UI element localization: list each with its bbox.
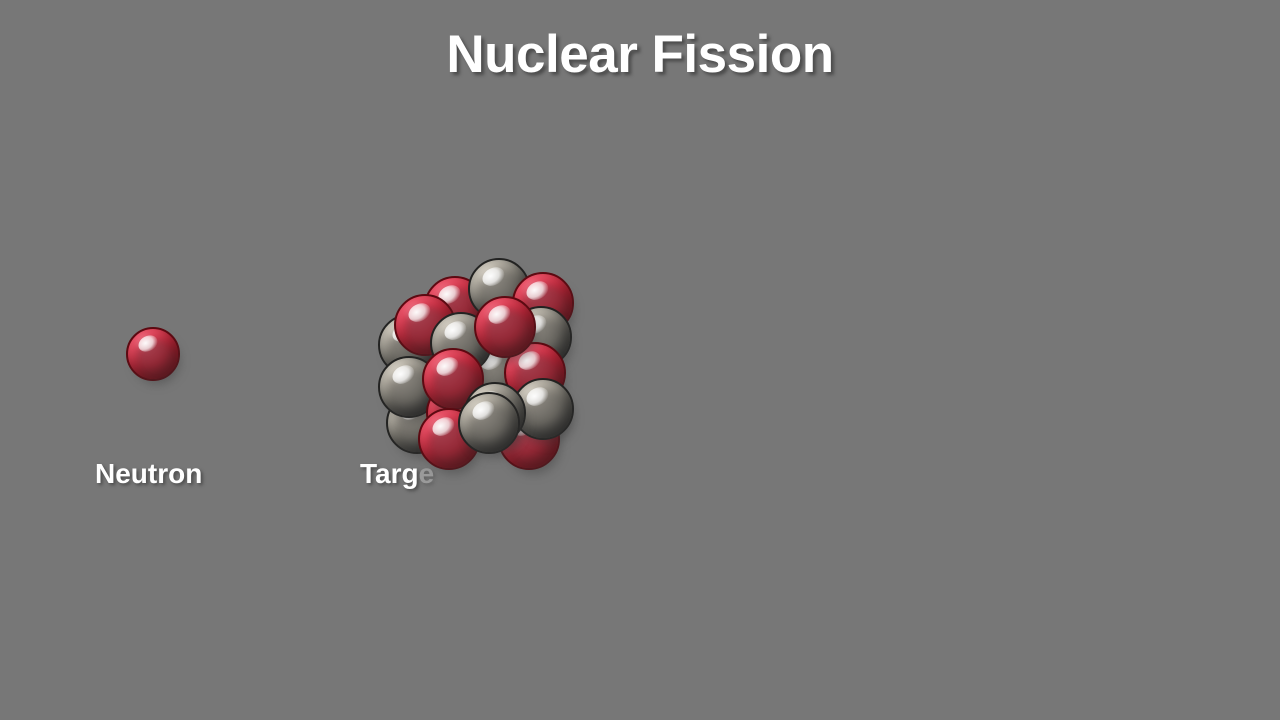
target-nucleus-cluster <box>378 256 574 456</box>
neutron-sphere <box>458 392 520 454</box>
fission-animation-stage: Nuclear Fission Neutron Targe <box>0 0 1280 720</box>
free-neutron-sphere <box>126 327 180 381</box>
page-title: Nuclear Fission <box>0 24 1280 85</box>
target-label-typed: Targ <box>360 458 419 489</box>
target-label: Targe <box>360 458 434 490</box>
proton-sphere <box>474 296 536 358</box>
neutron-label: Neutron <box>95 458 202 490</box>
